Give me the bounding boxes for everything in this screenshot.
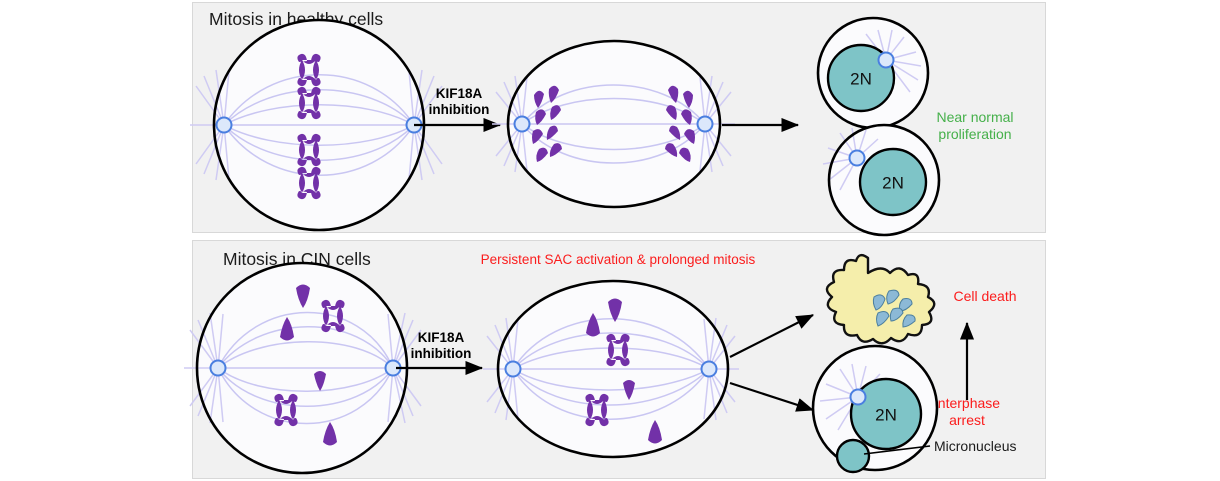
- label-micronucleus: Micronucleus: [934, 438, 1054, 455]
- figure-canvas: Mitosis in healthy cells: [0, 0, 1220, 481]
- nucleus-label-2n-arrested: 2N: [875, 406, 897, 425]
- cin-arrested-cell: 2N: [0, 0, 1220, 481]
- micronucleus: [837, 440, 869, 472]
